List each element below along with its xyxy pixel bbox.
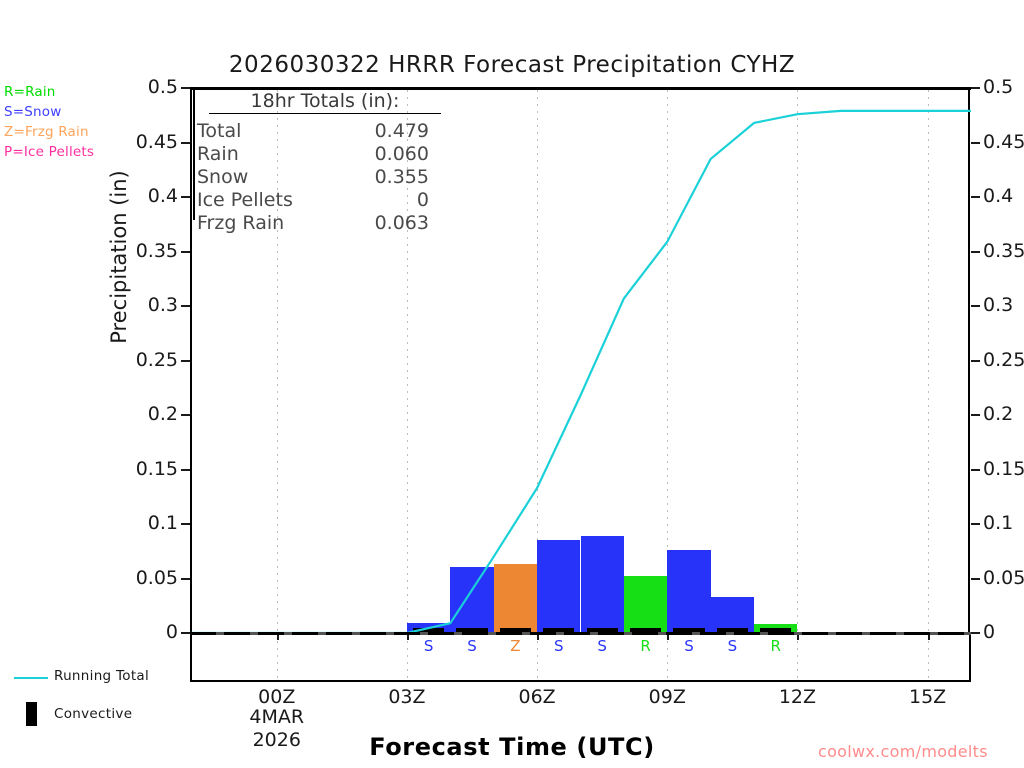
y-tick-label-right: 0.1 (983, 512, 1024, 534)
y-tick-label-right: 0.45 (983, 131, 1024, 153)
totals-row-value: 0.063 (195, 212, 429, 234)
totals-row-value: 0.060 (195, 143, 429, 165)
totals-header: 18hr Totals (in): (209, 90, 441, 114)
y-tick-right (971, 360, 980, 362)
y-tick-label-right: 0.25 (983, 349, 1024, 371)
x-axis-date-line1: 4MAR (232, 706, 322, 729)
y-tick-label-left: 0.25 (118, 349, 178, 371)
precip-bar (537, 540, 580, 633)
ptype-legend-item-s: S=Snow (4, 102, 164, 122)
ptype-letter: Z (495, 637, 535, 655)
x-tick-label: 03Z (362, 686, 452, 708)
forecast-precipitation-chart: 2026030322 HRRR Forecast Precipitation C… (0, 0, 1024, 768)
y-tick-label-left: 0.5 (118, 76, 178, 98)
y-tick-label-right: 0.4 (983, 185, 1024, 207)
x-tick-label: 00Z (232, 686, 322, 708)
y-tick-right (971, 523, 980, 525)
y-tick-right (971, 578, 980, 580)
page-title: 2026030322 HRRR Forecast Precipitation C… (0, 52, 1024, 78)
ptype-strip-box (190, 632, 971, 682)
y-tick-right (971, 414, 980, 416)
y-tick-left (181, 196, 190, 198)
y-tick-right (971, 196, 980, 198)
convective-legend-swatch (26, 702, 37, 726)
y-tick-label-right: 0.35 (983, 240, 1024, 262)
y-tick-right (971, 632, 980, 634)
y-tick-label-right: 0 (983, 621, 1024, 643)
y-tick-label-left: 0.3 (118, 294, 178, 316)
y-tick-label-left: 0.05 (118, 567, 178, 589)
y-tick-right (971, 87, 980, 89)
x-gridline-lower (928, 634, 929, 680)
y-tick-label-left: 0.4 (118, 185, 178, 207)
x-gridline-lower (277, 634, 278, 680)
x-tick-label: 06Z (492, 686, 582, 708)
totals-row-value: 0.479 (195, 120, 429, 142)
y-tick-label-right: 0.5 (983, 76, 1024, 98)
running-total-legend-swatch (14, 677, 48, 679)
y-tick-label-left: 0.1 (118, 512, 178, 534)
y-tick-left (181, 414, 190, 416)
y-tick-label-right: 0.3 (983, 294, 1024, 316)
y-tick-label-left: 0.45 (118, 131, 178, 153)
ptype-letter: R (756, 637, 796, 655)
y-tick-label-right: 0.15 (983, 458, 1024, 480)
y-tick-label-left: 0.35 (118, 240, 178, 262)
precip-bar (667, 550, 710, 633)
x-tick-label: 12Z (752, 686, 842, 708)
y-tick-left (181, 305, 190, 307)
y-tick-left (181, 632, 190, 634)
y-tick-label-left: 0.15 (118, 458, 178, 480)
y-tick-label-right: 0.05 (983, 567, 1024, 589)
ptype-letter: S (539, 637, 579, 655)
precip-bar (494, 564, 537, 633)
watermark: coolwx.com/modelts (818, 742, 988, 761)
y-tick-label-left: 0.2 (118, 403, 178, 425)
ptype-letter: S (409, 637, 449, 655)
y-tick-left (181, 523, 190, 525)
totals-row: Total0.479 (195, 120, 445, 143)
totals-row: Rain0.060 (195, 143, 445, 166)
totals-row-value: 0.355 (195, 166, 429, 188)
ptype-letter: S (582, 637, 622, 655)
y-tick-right (971, 305, 980, 307)
precip-bar (450, 567, 493, 633)
y-tick-left (181, 469, 190, 471)
totals-row: Frzg Rain0.063 (195, 212, 445, 235)
y-tick-label-right: 0.2 (983, 403, 1024, 425)
ptype-letter: S (669, 637, 709, 655)
precip-bar (624, 576, 667, 633)
x-tick-label: 09Z (622, 686, 712, 708)
zero-baseline (190, 632, 971, 635)
y-tick-right (971, 469, 980, 471)
y-tick-label-left: 0 (118, 621, 178, 643)
running-total-legend-label: Running Total (54, 668, 149, 684)
x-gridline (797, 90, 798, 632)
totals-row: Ice Pellets0 (195, 189, 445, 212)
x-gridline-lower (667, 634, 668, 680)
x-gridline (928, 90, 929, 632)
y-tick-left (181, 142, 190, 144)
y-tick-right (971, 142, 980, 144)
totals-row-value: 0 (195, 189, 429, 211)
y-tick-left (181, 87, 190, 89)
y-tick-left (181, 360, 190, 362)
ptype-letter: R (626, 637, 666, 655)
totals-summary-box: 18hr Totals (in): Total0.479Rain0.060Sno… (193, 90, 445, 220)
y-tick-left (181, 251, 190, 253)
precip-bar (581, 536, 624, 633)
y-tick-right (971, 251, 980, 253)
x-tick-label: 15Z (883, 686, 973, 708)
ptype-letter: S (452, 637, 492, 655)
totals-row: Snow0.355 (195, 166, 445, 189)
y-tick-left (181, 578, 190, 580)
x-gridline-lower (797, 634, 798, 680)
ptype-letter: S (712, 637, 752, 655)
convective-legend-label: Convective (54, 706, 132, 722)
